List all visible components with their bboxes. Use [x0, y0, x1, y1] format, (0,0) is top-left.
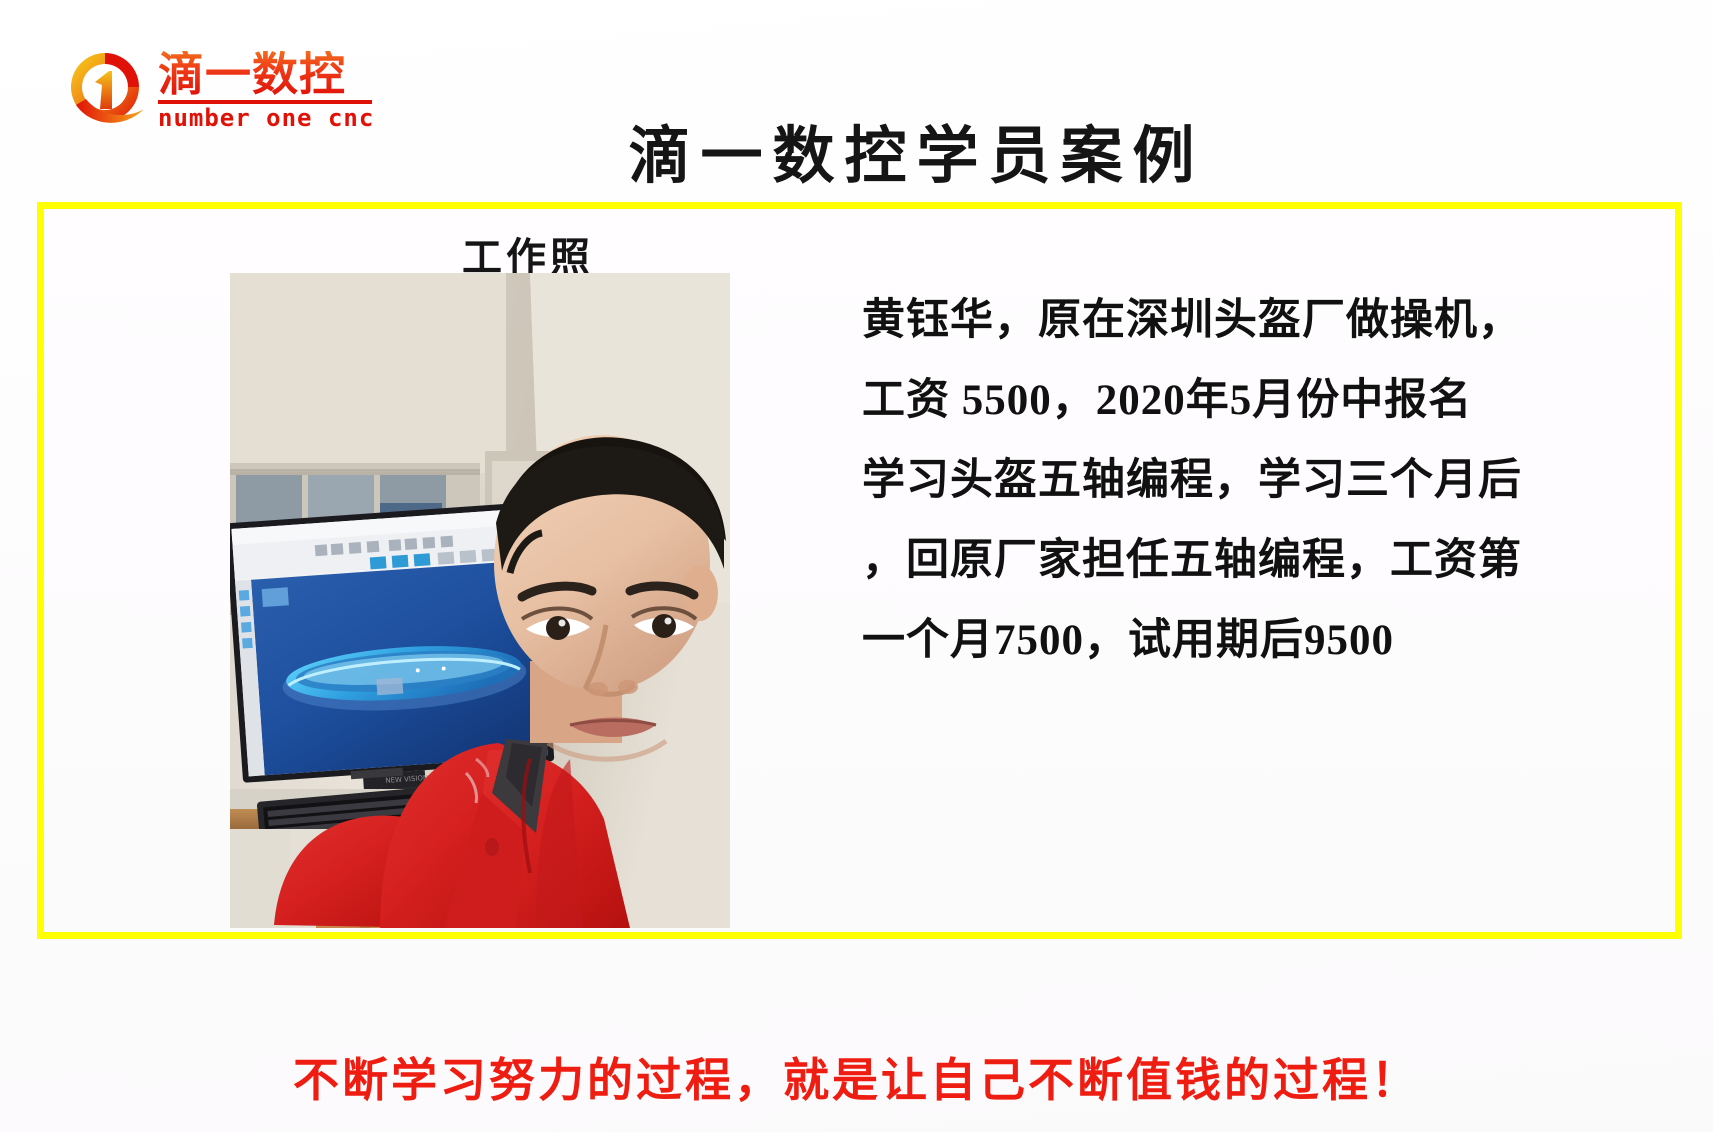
brand-logo-divider [158, 100, 372, 104]
case-description: 黄钰华，原在深圳头盔厂做操机， 工资 5500，2020年5月份中报名 学习头盔… [862, 281, 1652, 681]
case-line: 黄钰华，原在深圳头盔厂做操机， [862, 281, 1652, 361]
case-line: 学习头盔五轴编程，学习三个月后 [862, 441, 1652, 521]
case-line: 一个月7500，试用期后9500 [862, 601, 1652, 681]
case-line: 工资 5500，2020年5月份中报名 [862, 361, 1652, 441]
work-photo: NEW VISION SUNSHINE [230, 273, 730, 928]
content-panel: 工作照 [37, 202, 1682, 939]
brand-logo-cn: 滴一数控 [158, 51, 374, 97]
footer-slogan: 不断学习努力的过程，就是让自己不断值钱的过程！ [0, 1044, 1713, 1110]
slide-root: 滴一数控 number one cnc 滴一数控学员案例 工作照 [0, 0, 1713, 1132]
case-line: ，回原厂家担任五轴编程，工资第 [862, 521, 1652, 601]
page-title: 滴一数控学员案例 [0, 105, 1713, 195]
photo-block: 工作照 [230, 273, 730, 928]
